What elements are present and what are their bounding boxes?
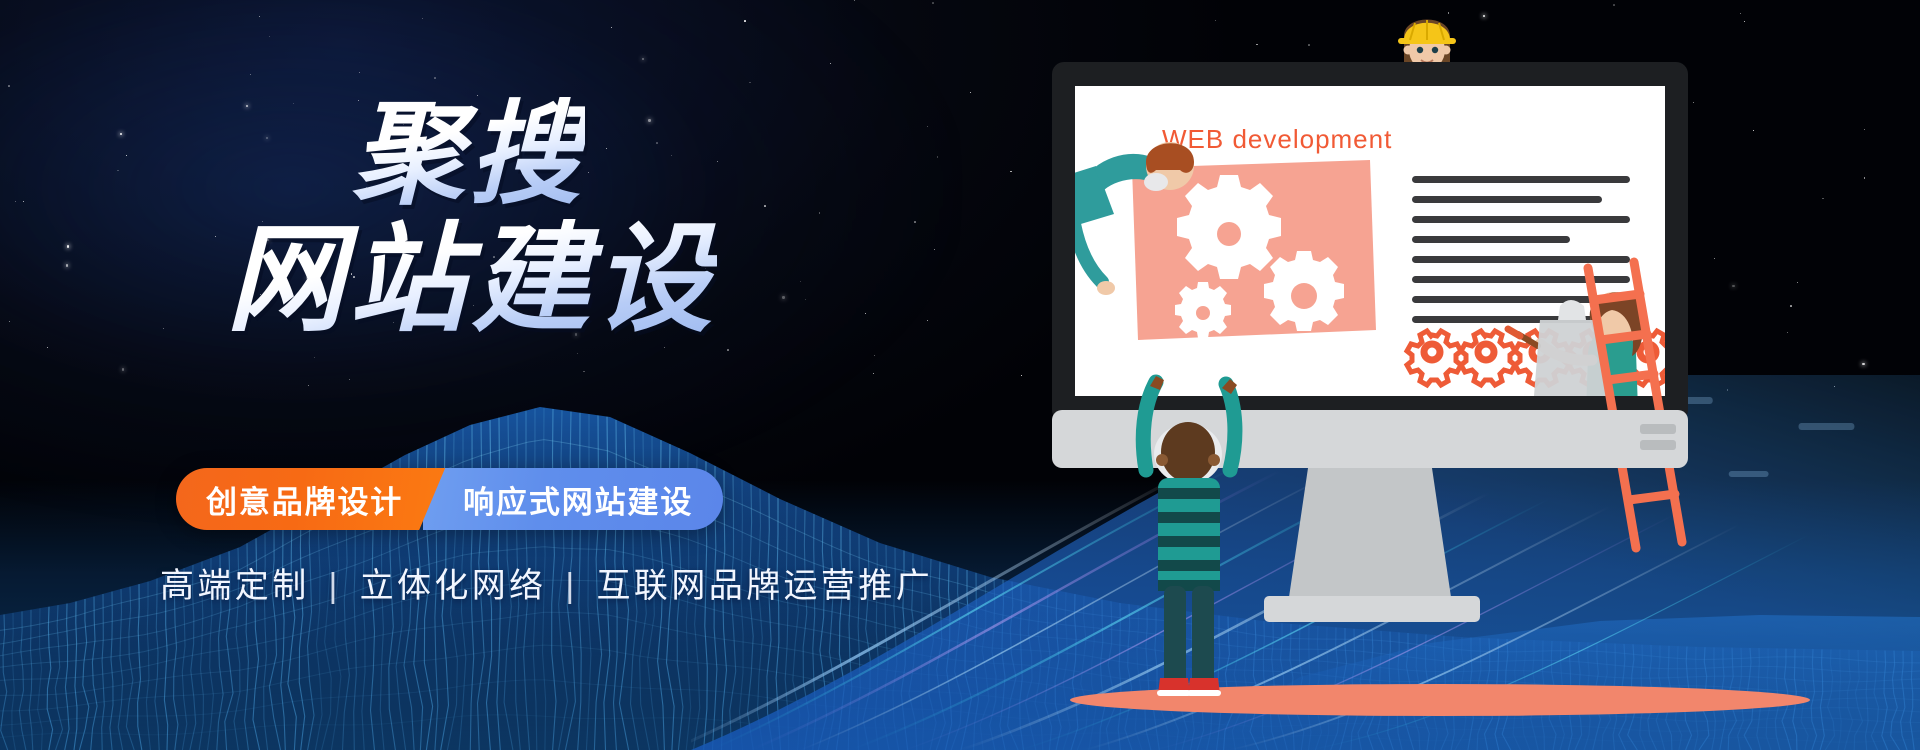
monitor-illustration: WEB development — [1040, 0, 1920, 750]
tagline-separator-1: | — [322, 567, 346, 605]
tag-pill-creative-branding[interactable]: 创意品牌设计 — [176, 468, 445, 530]
tagline: 高端定制 | 立体化网络 | 互联网品牌运营推广 — [160, 558, 933, 607]
tag-pill-responsive-web[interactable]: 响应式网站建设 — [423, 468, 723, 530]
monitor-base — [1264, 596, 1480, 622]
tagline-item-1: 高端定制 — [160, 567, 310, 605]
tagline-separator-2: | — [559, 567, 583, 605]
hero-banner: 聚搜 网站建设 创意品牌设计 响应式网站建设 高端定制 | 立体化网络 | 互联… — [0, 0, 1920, 750]
monitor-vent-2 — [1640, 440, 1676, 450]
brand-title: 聚搜 — [352, 96, 585, 215]
striped-torso — [1158, 478, 1220, 591]
hero-headline: 网站建设 — [226, 218, 717, 343]
tagline-item-3: 互联网品牌运营推广 — [597, 567, 934, 605]
monitor-neck — [1288, 468, 1452, 604]
tagline-item-2: 立体化网络 — [360, 567, 547, 605]
tag-pill-group: 创意品牌设计 响应式网站建设 — [176, 468, 723, 530]
monitor-vent-1 — [1640, 424, 1676, 434]
hero-copy: 聚搜 网站建设 创意品牌设计 响应式网站建设 高端定制 | 立体化网络 | 互联… — [0, 0, 1060, 750]
screen-heading: WEB development — [1162, 124, 1392, 154]
